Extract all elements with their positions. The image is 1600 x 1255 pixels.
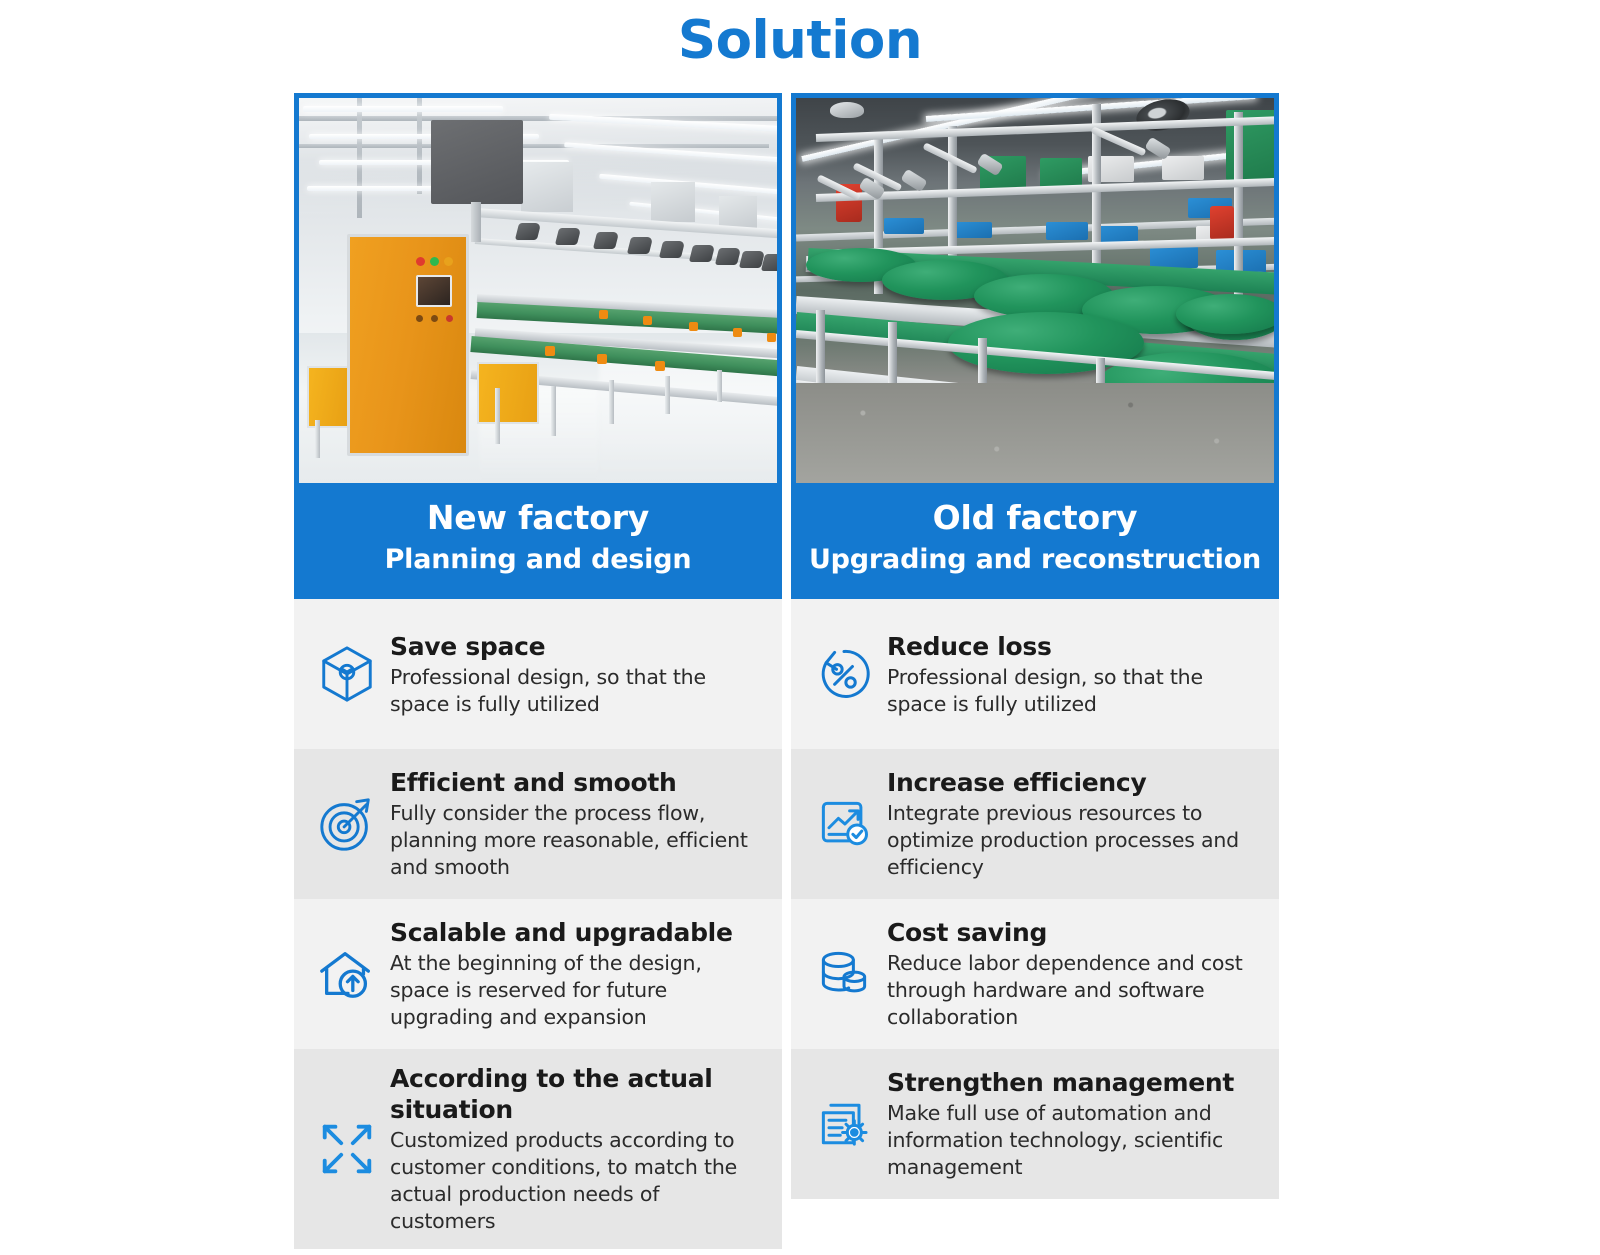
feature-title: Cost saving [887, 917, 1259, 948]
feature-text: Scalable and upgradable At the beginning… [390, 917, 766, 1031]
feature-title: Strengthen management [887, 1067, 1259, 1098]
column-new-factory: New factory Planning and design [294, 93, 782, 1249]
feature-description: At the beginning of the design, space is… [390, 950, 762, 1031]
feature-description: Integrate previous resources to optimize… [887, 800, 1259, 881]
feature-title: Save space [390, 631, 762, 662]
caption-title: New factory [302, 497, 774, 539]
feature-efficient-and-smooth[interactable]: Efficient and smooth Fully consider the … [294, 749, 782, 899]
caption-subtitle: Planning and design [302, 541, 774, 579]
new-factory-caption: New factory Planning and design [294, 483, 782, 599]
feature-title: Reduce loss [887, 631, 1259, 662]
feature-strengthen-management[interactable]: Strengthen management Make full use of a… [791, 1049, 1279, 1199]
feature-description: Professional design, so that the space i… [390, 664, 762, 718]
feature-text: Cost saving Reduce labor dependence and … [887, 917, 1263, 1031]
feature-scalable-and-upgradable[interactable]: Scalable and upgradable At the beginning… [294, 899, 782, 1049]
feature-text: Efficient and smooth Fully consider the … [390, 767, 766, 881]
feature-title: Increase efficiency [887, 767, 1259, 798]
expand-arrows-icon [304, 1113, 390, 1185]
new-factory-photo [294, 93, 782, 483]
house-up-arrow-icon [304, 938, 390, 1010]
new-factory-feature-list: Save space Professional design, so that … [294, 599, 782, 1249]
cube-box-icon [304, 638, 390, 710]
database-stack-icon [801, 938, 887, 1010]
old-factory-caption: Old factory Upgrading and reconstruction [791, 483, 1279, 599]
feature-title: Scalable and upgradable [390, 917, 762, 948]
feature-text: Save space Professional design, so that … [390, 631, 766, 718]
document-gear-icon [801, 1088, 887, 1160]
feature-description: Professional design, so that the space i… [887, 664, 1259, 718]
feature-save-space[interactable]: Save space Professional design, so that … [294, 599, 782, 749]
old-factory-feature-list: Reduce loss Professional design, so that… [791, 599, 1279, 1199]
caption-title: Old factory [799, 497, 1271, 539]
chart-trend-check-icon [801, 788, 887, 860]
feature-increase-efficiency[interactable]: Increase efficiency Integrate previous r… [791, 749, 1279, 899]
old-factory-photo-scene [796, 98, 1274, 483]
feature-text: Increase efficiency Integrate previous r… [887, 767, 1263, 881]
feature-reduce-loss[interactable]: Reduce loss Professional design, so that… [791, 599, 1279, 749]
solution-infographic: Solution [0, 0, 1600, 1255]
feature-description: Fully consider the process flow, plannin… [390, 800, 762, 881]
percent-refresh-icon [801, 638, 887, 710]
feature-description: Customized products according to custome… [390, 1127, 762, 1235]
feature-according-to-actual-situation[interactable]: According to the actual situation Custom… [294, 1049, 782, 1249]
caption-subtitle: Upgrading and reconstruction [799, 541, 1271, 579]
feature-title: Efficient and smooth [390, 767, 762, 798]
feature-description: Make full use of automation and informat… [887, 1100, 1259, 1181]
feature-title: According to the actual situation [390, 1063, 762, 1125]
column-old-factory: Old factory Upgrading and reconstruction [791, 93, 1279, 1249]
solution-columns: New factory Planning and design [294, 93, 1279, 1249]
old-factory-photo [791, 93, 1279, 483]
feature-cost-saving[interactable]: Cost saving Reduce labor dependence and … [791, 899, 1279, 1049]
target-arrow-icon [304, 788, 390, 860]
feature-description: Reduce labor dependence and cost through… [887, 950, 1259, 1031]
new-factory-photo-scene [299, 98, 777, 483]
feature-text: Strengthen management Make full use of a… [887, 1067, 1263, 1181]
feature-text: According to the actual situation Custom… [390, 1063, 766, 1235]
page-title: Solution [0, 6, 1600, 76]
feature-text: Reduce loss Professional design, so that… [887, 631, 1263, 718]
